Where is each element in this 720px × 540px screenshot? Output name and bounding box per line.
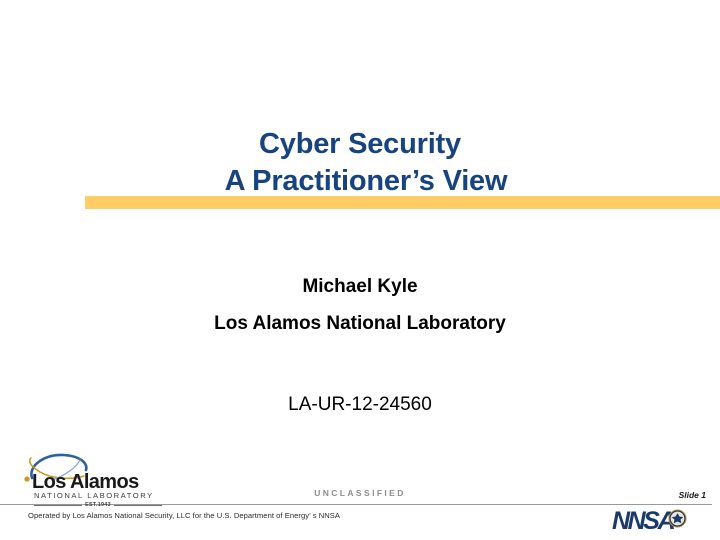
nnsa-wordmark: NNSA [612, 508, 673, 534]
operated-by-statement: Operated by Los Alamos National Security… [28, 511, 340, 520]
nnsa-logo: NNSA [612, 508, 708, 536]
report-number: LA-UR-12-24560 [0, 394, 720, 416]
lanl-established-line: EST.1943 [34, 501, 162, 509]
accent-divider-bar [85, 196, 720, 209]
lanl-established-text: EST.1943 [85, 502, 111, 508]
lanl-est-rule-right [114, 505, 162, 506]
slide-number: Slide 1 [679, 490, 706, 500]
classification-marking: UNCLASSIFIED [0, 488, 720, 498]
presenter-name: Michael Kyle [0, 268, 720, 305]
title-line-secondary: A Practitioner’s View [12, 163, 720, 200]
page-title: Cyber Security A Practitioner’s View [0, 126, 720, 200]
lanl-est-rule-left [34, 505, 82, 506]
title-line-primary: Cyber Security [0, 126, 720, 163]
presentation-slide: Cyber Security A Practitioner’s View Mic… [0, 0, 720, 540]
presenter-organization: Los Alamos National Laboratory [0, 305, 720, 342]
presenter-block: Michael Kyle Los Alamos National Laborat… [0, 268, 720, 342]
nnsa-eagle-seal-icon [668, 509, 687, 528]
